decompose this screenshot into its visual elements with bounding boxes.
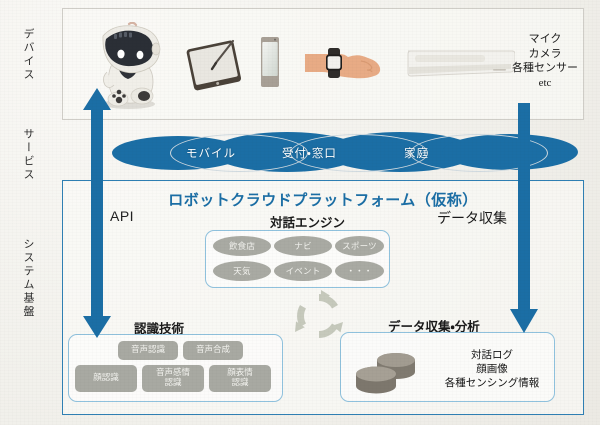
layer-label-service: サービス	[20, 128, 36, 182]
recognition-item-speech-synthesis[interactable]: 音声合成	[183, 341, 243, 360]
bidirectional-arrow-left	[82, 88, 112, 338]
analysis-line-2: 顔画像	[430, 362, 554, 376]
recognition-item-facial-expression[interactable]: 顔表情 認識	[209, 365, 271, 392]
dialog-engine-title: 対話エンジン	[270, 212, 345, 231]
dialog-item-restaurant[interactable]: 飲食店	[213, 236, 271, 256]
sensor-line-2: カメラ	[497, 47, 593, 62]
cycle-arrows-icon	[291, 288, 347, 344]
recognition-item-speech-recognition[interactable]: 音声認識	[118, 341, 178, 360]
diagram-canvas: デバイス サービス システム基盤	[0, 0, 600, 425]
analysis-line-3: 各種センシング情報	[430, 376, 554, 390]
platform-title: ロボットクラウドプラットフォーム（仮称）	[63, 189, 583, 210]
service-item-home[interactable]: 家庭	[404, 145, 429, 161]
database-icon	[352, 345, 424, 397]
api-label: API	[110, 208, 134, 224]
smartwatch-icon	[305, 46, 383, 82]
service-item-mobile[interactable]: モバイル	[186, 145, 236, 161]
dialog-item-sports[interactable]: スポーツ	[335, 236, 384, 256]
sensor-line-1: マイク	[497, 32, 593, 47]
layer-label-system: システム基盤	[20, 238, 36, 319]
sensor-line-4: etc	[497, 76, 593, 91]
analysis-text: 対話ログ 顔画像 各種センシング情報	[430, 348, 554, 391]
dialog-item-event[interactable]: イベント	[274, 261, 332, 281]
recognition-item-voice-emotion[interactable]: 音声感情 認識	[142, 365, 204, 392]
service-item-reception[interactable]: 受付・窓口	[282, 145, 337, 161]
sensor-line-3: 各種センサー	[497, 61, 593, 76]
smartphone-icon	[258, 36, 282, 88]
dialog-item-navigation[interactable]: ナビ	[274, 236, 332, 256]
sensor-list: マイク カメラ 各種センサー etc	[497, 32, 593, 90]
downward-arrow-right	[509, 103, 539, 333]
layer-label-device: デバイス	[20, 28, 36, 82]
recognition-item-face-recognition[interactable]: 顔認識	[75, 365, 137, 392]
tablet-icon	[185, 38, 247, 94]
analysis-line-1: 対話ログ	[430, 348, 554, 362]
dialog-item-more[interactable]: ・・・	[335, 261, 384, 281]
dialog-item-weather[interactable]: 天気	[213, 261, 271, 281]
data-collection-label: データ収集	[437, 208, 507, 228]
